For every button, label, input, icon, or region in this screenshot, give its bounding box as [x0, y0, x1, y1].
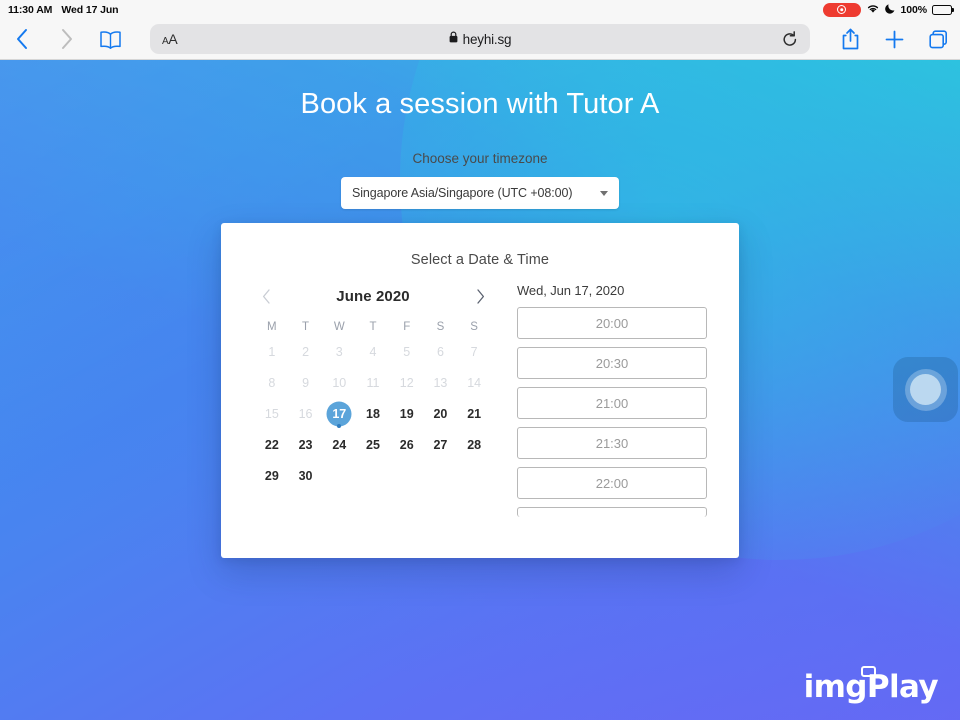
calendar-weekday-4: F — [390, 316, 424, 338]
calendar-day-14: 14 — [457, 369, 491, 396]
status-bar-left: 11:30 AM Wed 17 Jun — [8, 4, 119, 16]
timeslot-partial[interactable] — [517, 507, 707, 517]
webpage-content: Book a session with Tutor A Choose your … — [0, 60, 960, 720]
calendar-day-11: 11 — [356, 369, 390, 396]
calendar-day-26[interactable]: 26 — [390, 431, 424, 458]
timeslot-2130[interactable]: 21:30 — [517, 427, 707, 459]
calendar-day-13: 13 — [424, 369, 458, 396]
calendar-day-8: 8 — [255, 369, 289, 396]
booking-body: June 2020 MTWTFSS 1234567891011121314151… — [221, 282, 739, 525]
calendar-month-label: June 2020 — [277, 288, 469, 305]
forward-chevron-icon[interactable] — [44, 19, 88, 60]
calendar-day-12: 12 — [390, 369, 424, 396]
calendar-weekday-2: W — [322, 316, 356, 338]
calendar-day-1: 1 — [255, 338, 289, 365]
timezone-select[interactable]: Singapore Asia/Singapore (UTC +08:00) — [341, 177, 619, 209]
calendar-day-22[interactable]: 22 — [255, 431, 289, 458]
calendar-day-21[interactable]: 21 — [457, 400, 491, 427]
back-chevron-icon[interactable] — [0, 19, 44, 60]
calendar-day-availability-dot — [337, 424, 341, 428]
booking-heading: Select a Date & Time — [221, 252, 739, 268]
calendar-day-number: 17 — [332, 407, 346, 421]
chevron-left-icon[interactable] — [255, 283, 277, 309]
calendar-day-3: 3 — [322, 338, 356, 365]
battery-icon — [932, 5, 952, 15]
calendar-weekday-6: S — [457, 316, 491, 338]
calendar-day-2: 2 — [289, 338, 323, 365]
moon-icon — [885, 3, 896, 17]
calendar-day-27[interactable]: 27 — [424, 431, 458, 458]
wifi-icon — [866, 3, 880, 17]
calendar-day-24[interactable]: 24 — [322, 431, 356, 458]
calendar-day-6: 6 — [424, 338, 458, 365]
calendar-weekday-0: M — [255, 316, 289, 338]
calendar-day-7: 7 — [457, 338, 491, 365]
battery-percent: 100% — [901, 4, 927, 16]
url-display: heyhi.sg — [150, 30, 810, 48]
calendar-day-5: 5 — [390, 338, 424, 365]
timeslot-2000[interactable]: 20:00 — [517, 307, 707, 339]
timeslot-date-label: Wed, Jun 17, 2020 — [517, 283, 707, 298]
imgplay-watermark: imgPlay — [804, 669, 938, 705]
record-indicator-icon[interactable] — [823, 3, 861, 17]
safari-toolbar: AAAA heyhi.sg — [0, 19, 960, 60]
calendar-day-grid: 1234567891011121314151617181920212223242… — [255, 338, 491, 489]
calendar-day-9: 9 — [289, 369, 323, 396]
page-title: Book a session with Tutor A — [0, 88, 960, 121]
status-time: 11:30 AM — [8, 4, 52, 16]
calendar-weekday-row: MTWTFSS — [255, 316, 491, 338]
calendar-day-4: 4 — [356, 338, 390, 365]
share-icon[interactable] — [828, 19, 872, 60]
calendar-weekday-3: T — [356, 316, 390, 338]
tabs-icon[interactable] — [916, 19, 960, 60]
calendar-day-23[interactable]: 23 — [289, 431, 323, 458]
text-size-button[interactable]: AAAA — [162, 32, 177, 47]
calendar-day-28[interactable]: 28 — [457, 431, 491, 458]
calendar-day-16: 16 — [289, 400, 323, 427]
url-text: heyhi.sg — [463, 32, 512, 47]
calendar-day-17[interactable]: 17 — [322, 400, 356, 427]
timeslot-list: 20:0020:3021:0021:3022:00 — [517, 307, 707, 499]
calendar-day-30[interactable]: 30 — [289, 462, 323, 489]
address-bar[interactable]: AAAA heyhi.sg — [150, 24, 810, 54]
calendar-weekday-5: S — [424, 316, 458, 338]
status-date: Wed 17 Jun — [61, 4, 118, 16]
timeslot-panel: Wed, Jun 17, 2020 20:0020:3021:0021:3022… — [491, 282, 713, 525]
calendar-day-29[interactable]: 29 — [255, 462, 289, 489]
calendar: June 2020 MTWTFSS 1234567891011121314151… — [223, 282, 491, 525]
calendar-day-10: 10 — [322, 369, 356, 396]
lock-icon — [449, 30, 458, 48]
status-bar: 11:30 AM Wed 17 Jun 100% — [0, 0, 960, 19]
timeslot-2200[interactable]: 22:00 — [517, 467, 707, 499]
calendar-day-25[interactable]: 25 — [356, 431, 390, 458]
calendar-header: June 2020 — [255, 282, 491, 310]
reload-icon[interactable] — [782, 31, 798, 48]
assistive-touch-outer-ring — [905, 369, 947, 411]
booking-card: Select a Date & Time June 2020 MTWTFSS — [221, 223, 739, 558]
calendar-day-19[interactable]: 19 — [390, 400, 424, 427]
assistive-touch-button[interactable] — [893, 357, 958, 422]
assistive-touch-inner-circle — [910, 374, 941, 405]
watermark-camera-icon — [861, 666, 876, 677]
calendar-day-15: 15 — [255, 400, 289, 427]
book-icon[interactable] — [88, 19, 132, 60]
timezone-label: Choose your timezone — [0, 151, 960, 166]
plus-icon[interactable] — [872, 19, 916, 60]
chevron-right-icon[interactable] — [469, 283, 491, 309]
timezone-value: Singapore Asia/Singapore (UTC +08:00) — [352, 186, 572, 200]
timeslot-2030[interactable]: 20:30 — [517, 347, 707, 379]
calendar-weekday-1: T — [289, 316, 323, 338]
ipad-safari-screen: 11:30 AM Wed 17 Jun 100% — [0, 0, 960, 720]
timeslot-2100[interactable]: 21:00 — [517, 387, 707, 419]
calendar-day-18[interactable]: 18 — [356, 400, 390, 427]
chevron-down-icon — [600, 191, 608, 196]
calendar-day-20[interactable]: 20 — [424, 400, 458, 427]
status-bar-right: 100% — [823, 3, 952, 17]
